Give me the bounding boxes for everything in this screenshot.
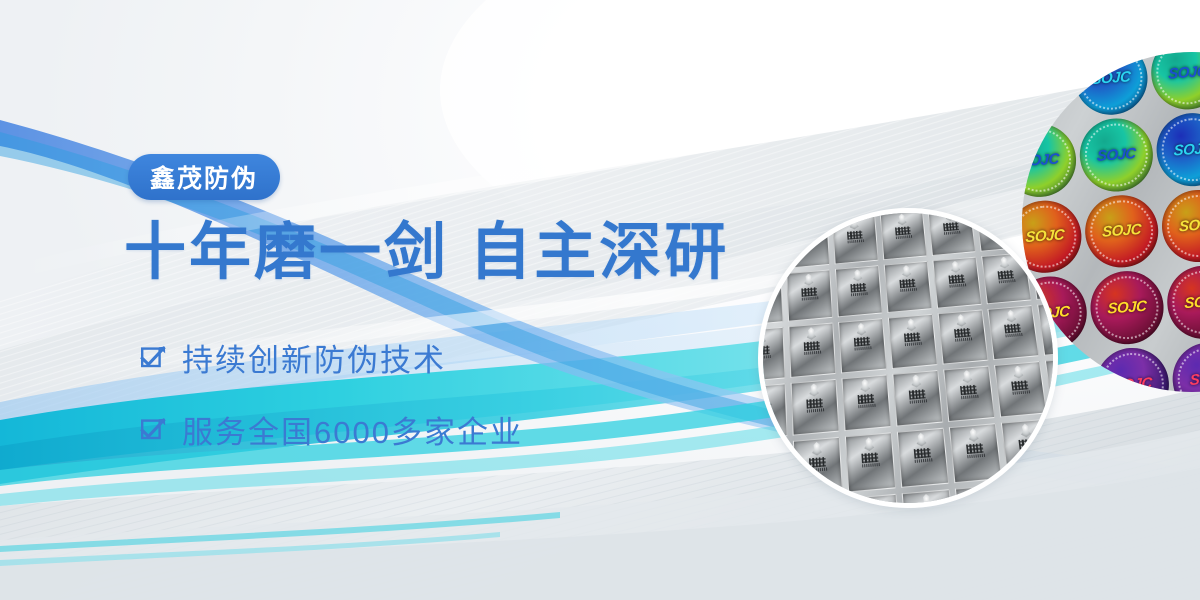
holo-sticker-logo: SOJC — [1096, 145, 1135, 165]
emblem-icon — [804, 327, 818, 341]
barcode-icon — [847, 239, 863, 243]
emblem-icon — [759, 507, 774, 508]
holo-sticker-logo: SOJC — [1091, 68, 1130, 88]
qr-code-icon — [991, 218, 1007, 227]
brand-badge: 鑫茂防伪 — [128, 154, 280, 200]
qr-code-icon — [1004, 323, 1021, 333]
barcode-icon — [944, 231, 960, 235]
silver-label — [927, 208, 975, 255]
silver-label — [835, 265, 883, 318]
holo-sticker: SOJC — [1148, 52, 1200, 112]
silver-label — [758, 502, 792, 508]
emblem-icon — [758, 446, 772, 461]
emblem-icon — [861, 437, 876, 452]
checkbox-checked-icon — [140, 344, 166, 370]
qr-code-icon — [861, 452, 878, 463]
barcode-icon — [900, 287, 917, 291]
barcode-icon — [955, 337, 972, 341]
barcode-icon — [998, 279, 1015, 283]
barcode-icon — [967, 454, 985, 459]
silver-label — [758, 273, 783, 326]
silver-label — [981, 252, 1032, 304]
emblem-icon — [908, 374, 923, 388]
silver-label — [758, 222, 781, 273]
barcode-icon — [909, 399, 926, 404]
qr-code-icon — [799, 235, 814, 244]
silver-label — [1023, 208, 1058, 247]
silver-label — [791, 378, 840, 435]
silver-label — [943, 365, 995, 422]
holo-sticker-logo: SOJC — [1112, 375, 1151, 392]
qr-code-icon — [809, 457, 826, 468]
barcode-icon — [914, 458, 932, 463]
emblem-icon — [943, 209, 957, 222]
holo-sticker-logo: SOJC — [1102, 221, 1141, 241]
silver-label — [884, 260, 933, 313]
barcode-icon — [1012, 390, 1030, 395]
silver-label — [795, 498, 846, 508]
emblem-icon — [948, 260, 963, 273]
barcode-icon — [961, 394, 978, 399]
barcode-icon — [904, 342, 921, 346]
emblem-icon — [895, 213, 909, 226]
silver-label — [897, 428, 949, 488]
barcode-icon — [801, 296, 818, 300]
barcode-icon — [799, 244, 815, 248]
barcode-icon — [1005, 333, 1022, 337]
emblem-icon — [904, 318, 919, 332]
silver-label — [793, 437, 843, 497]
emblem-icon — [913, 432, 929, 447]
holo-sticker: SOJC — [1072, 52, 1150, 117]
qr-code-icon — [997, 270, 1013, 280]
holo-sticker: SOJC — [1170, 340, 1200, 392]
qr-code-icon — [806, 398, 823, 409]
silver-label — [880, 209, 928, 259]
holo-sticker-logo: SOJC — [1022, 74, 1054, 94]
emblem-icon — [1010, 365, 1026, 379]
holo-sticker: SOJC — [1154, 111, 1200, 189]
silver-label — [938, 309, 989, 364]
holo-sticker-logo: SOJC — [1189, 369, 1200, 389]
silver-label — [892, 369, 943, 426]
silver-label — [955, 484, 1010, 508]
barcode-icon — [992, 227, 1008, 231]
qr-code-icon — [966, 443, 983, 454]
promo-banner: SOJC SOJC SOJC SOJC SOJC SOJC SOJC SOJC … — [0, 0, 1200, 600]
qr-code-icon — [758, 402, 771, 413]
barcode-icon — [806, 408, 823, 413]
silver-label — [1008, 479, 1058, 508]
qr-code-icon — [847, 230, 863, 239]
silver-label — [758, 383, 788, 440]
qr-code-icon — [1026, 500, 1044, 508]
barcode-icon — [949, 283, 966, 287]
silver-label — [1001, 419, 1055, 478]
barcode-icon — [758, 412, 772, 417]
barcode-icon — [809, 467, 827, 472]
silver-label — [841, 374, 891, 431]
emblem-icon — [858, 378, 873, 392]
feature-list: 持续创新防伪技术 服务全国6000多家企业 — [140, 332, 523, 476]
holo-sticker: SOJC — [1093, 346, 1171, 392]
holo-sticker-logo: SOJC — [1022, 150, 1059, 170]
qr-code-icon — [904, 332, 921, 342]
silver-label — [838, 318, 887, 373]
emblem-icon — [965, 428, 981, 443]
list-item: 持续创新防伪技术 — [140, 332, 523, 382]
list-item: 服务全国6000多家企业 — [140, 404, 523, 454]
silver-label — [848, 493, 900, 508]
silver-label — [758, 441, 790, 501]
barcode-icon — [895, 235, 911, 239]
holo-sticker-logo: SOJC — [1173, 139, 1200, 159]
silver-label — [758, 327, 785, 382]
emblem-icon — [972, 489, 988, 504]
emblem-icon — [899, 264, 913, 277]
holo-sticker-logo: SOJC — [1107, 298, 1146, 318]
qr-code-icon — [960, 384, 977, 394]
holo-sticker: SOJC — [1083, 193, 1161, 271]
silver-label — [932, 256, 982, 308]
qr-code-icon — [895, 226, 911, 235]
list-item-label: 服务全国6000多家企业 — [182, 407, 523, 452]
emblem-icon — [850, 269, 864, 282]
silver-label — [975, 208, 1024, 251]
holo-sticker: SOJC — [1022, 121, 1078, 199]
barcode-icon — [1019, 449, 1037, 454]
holo-sticker-logo: SOJC — [1168, 63, 1200, 83]
list-item-label: 持续创新防伪技术 — [182, 335, 446, 380]
silver-label — [902, 489, 956, 508]
emblem-icon — [807, 383, 822, 397]
silver-label — [888, 314, 938, 369]
silver-label — [845, 432, 896, 492]
checkbox-checked-icon — [140, 416, 166, 442]
banner-content: 鑫茂防伪 十年磨一剑 自主深研 持续创新防伪技术 服务全国6000多家企业 — [0, 0, 760, 600]
qr-code-icon — [909, 389, 926, 399]
qr-code-icon — [914, 448, 931, 459]
emblem-icon — [812, 503, 827, 508]
silver-label — [832, 213, 879, 264]
holo-sticker: SOJC — [1088, 269, 1166, 347]
emblem-icon — [1018, 423, 1034, 438]
qr-code-icon — [1039, 214, 1055, 223]
qr-code-icon — [854, 337, 870, 347]
emblem-icon — [802, 273, 816, 286]
emblem-icon — [847, 217, 861, 230]
qr-code-icon — [899, 278, 915, 288]
silver-label — [1053, 414, 1058, 473]
holo-sticker-logo: SOJC — [1184, 293, 1200, 313]
holo-sticker: SOJC — [1077, 116, 1155, 194]
qr-code-icon — [758, 462, 773, 473]
qr-code-icon — [850, 282, 866, 292]
silver-label — [788, 322, 836, 377]
qr-code-icon — [954, 328, 971, 338]
emblem-icon — [959, 369, 974, 383]
brand-badge-label: 鑫茂防伪 — [150, 159, 258, 195]
emblem-icon — [865, 498, 881, 508]
barcode-icon — [804, 351, 821, 355]
barcode-icon — [854, 346, 871, 350]
holo-sticker-logo: SOJC — [1178, 216, 1200, 236]
qr-code-icon — [973, 505, 991, 508]
emblem-icon — [997, 256, 1012, 269]
silver-label — [784, 218, 830, 269]
page-title: 十年磨一剑 自主深研 — [124, 222, 729, 284]
silver-label — [987, 305, 1039, 360]
qr-code-icon — [801, 287, 817, 297]
holo-sticker: SOJC — [1022, 52, 1073, 122]
emblem-icon — [1003, 309, 1018, 323]
holo-sticker: SOJC — [1165, 264, 1200, 342]
emblem-icon — [799, 222, 813, 235]
silver-label — [786, 269, 833, 322]
qr-code-icon — [1011, 380, 1028, 390]
emblem-icon — [854, 322, 869, 336]
qr-code-icon — [948, 274, 964, 284]
barcode-icon — [862, 463, 880, 468]
qr-code-icon — [804, 341, 820, 351]
silver-label-grid — [758, 208, 1058, 508]
barcode-icon — [758, 472, 774, 477]
qr-code-icon — [858, 393, 875, 403]
qr-code-icon — [1018, 439, 1036, 450]
qr-code-icon — [943, 222, 959, 231]
emblem-icon — [1025, 484, 1041, 499]
silver-label-sheet-image — [758, 208, 1058, 508]
emblem-icon — [919, 493, 935, 508]
silver-label — [994, 361, 1047, 418]
barcode-icon — [858, 403, 875, 408]
holo-sticker: SOJC — [1159, 187, 1200, 265]
emblem-icon — [954, 314, 969, 328]
silver-label — [949, 423, 1002, 483]
emblem-icon — [990, 208, 1005, 217]
barcode-icon — [850, 292, 867, 296]
emblem-icon — [809, 441, 824, 456]
